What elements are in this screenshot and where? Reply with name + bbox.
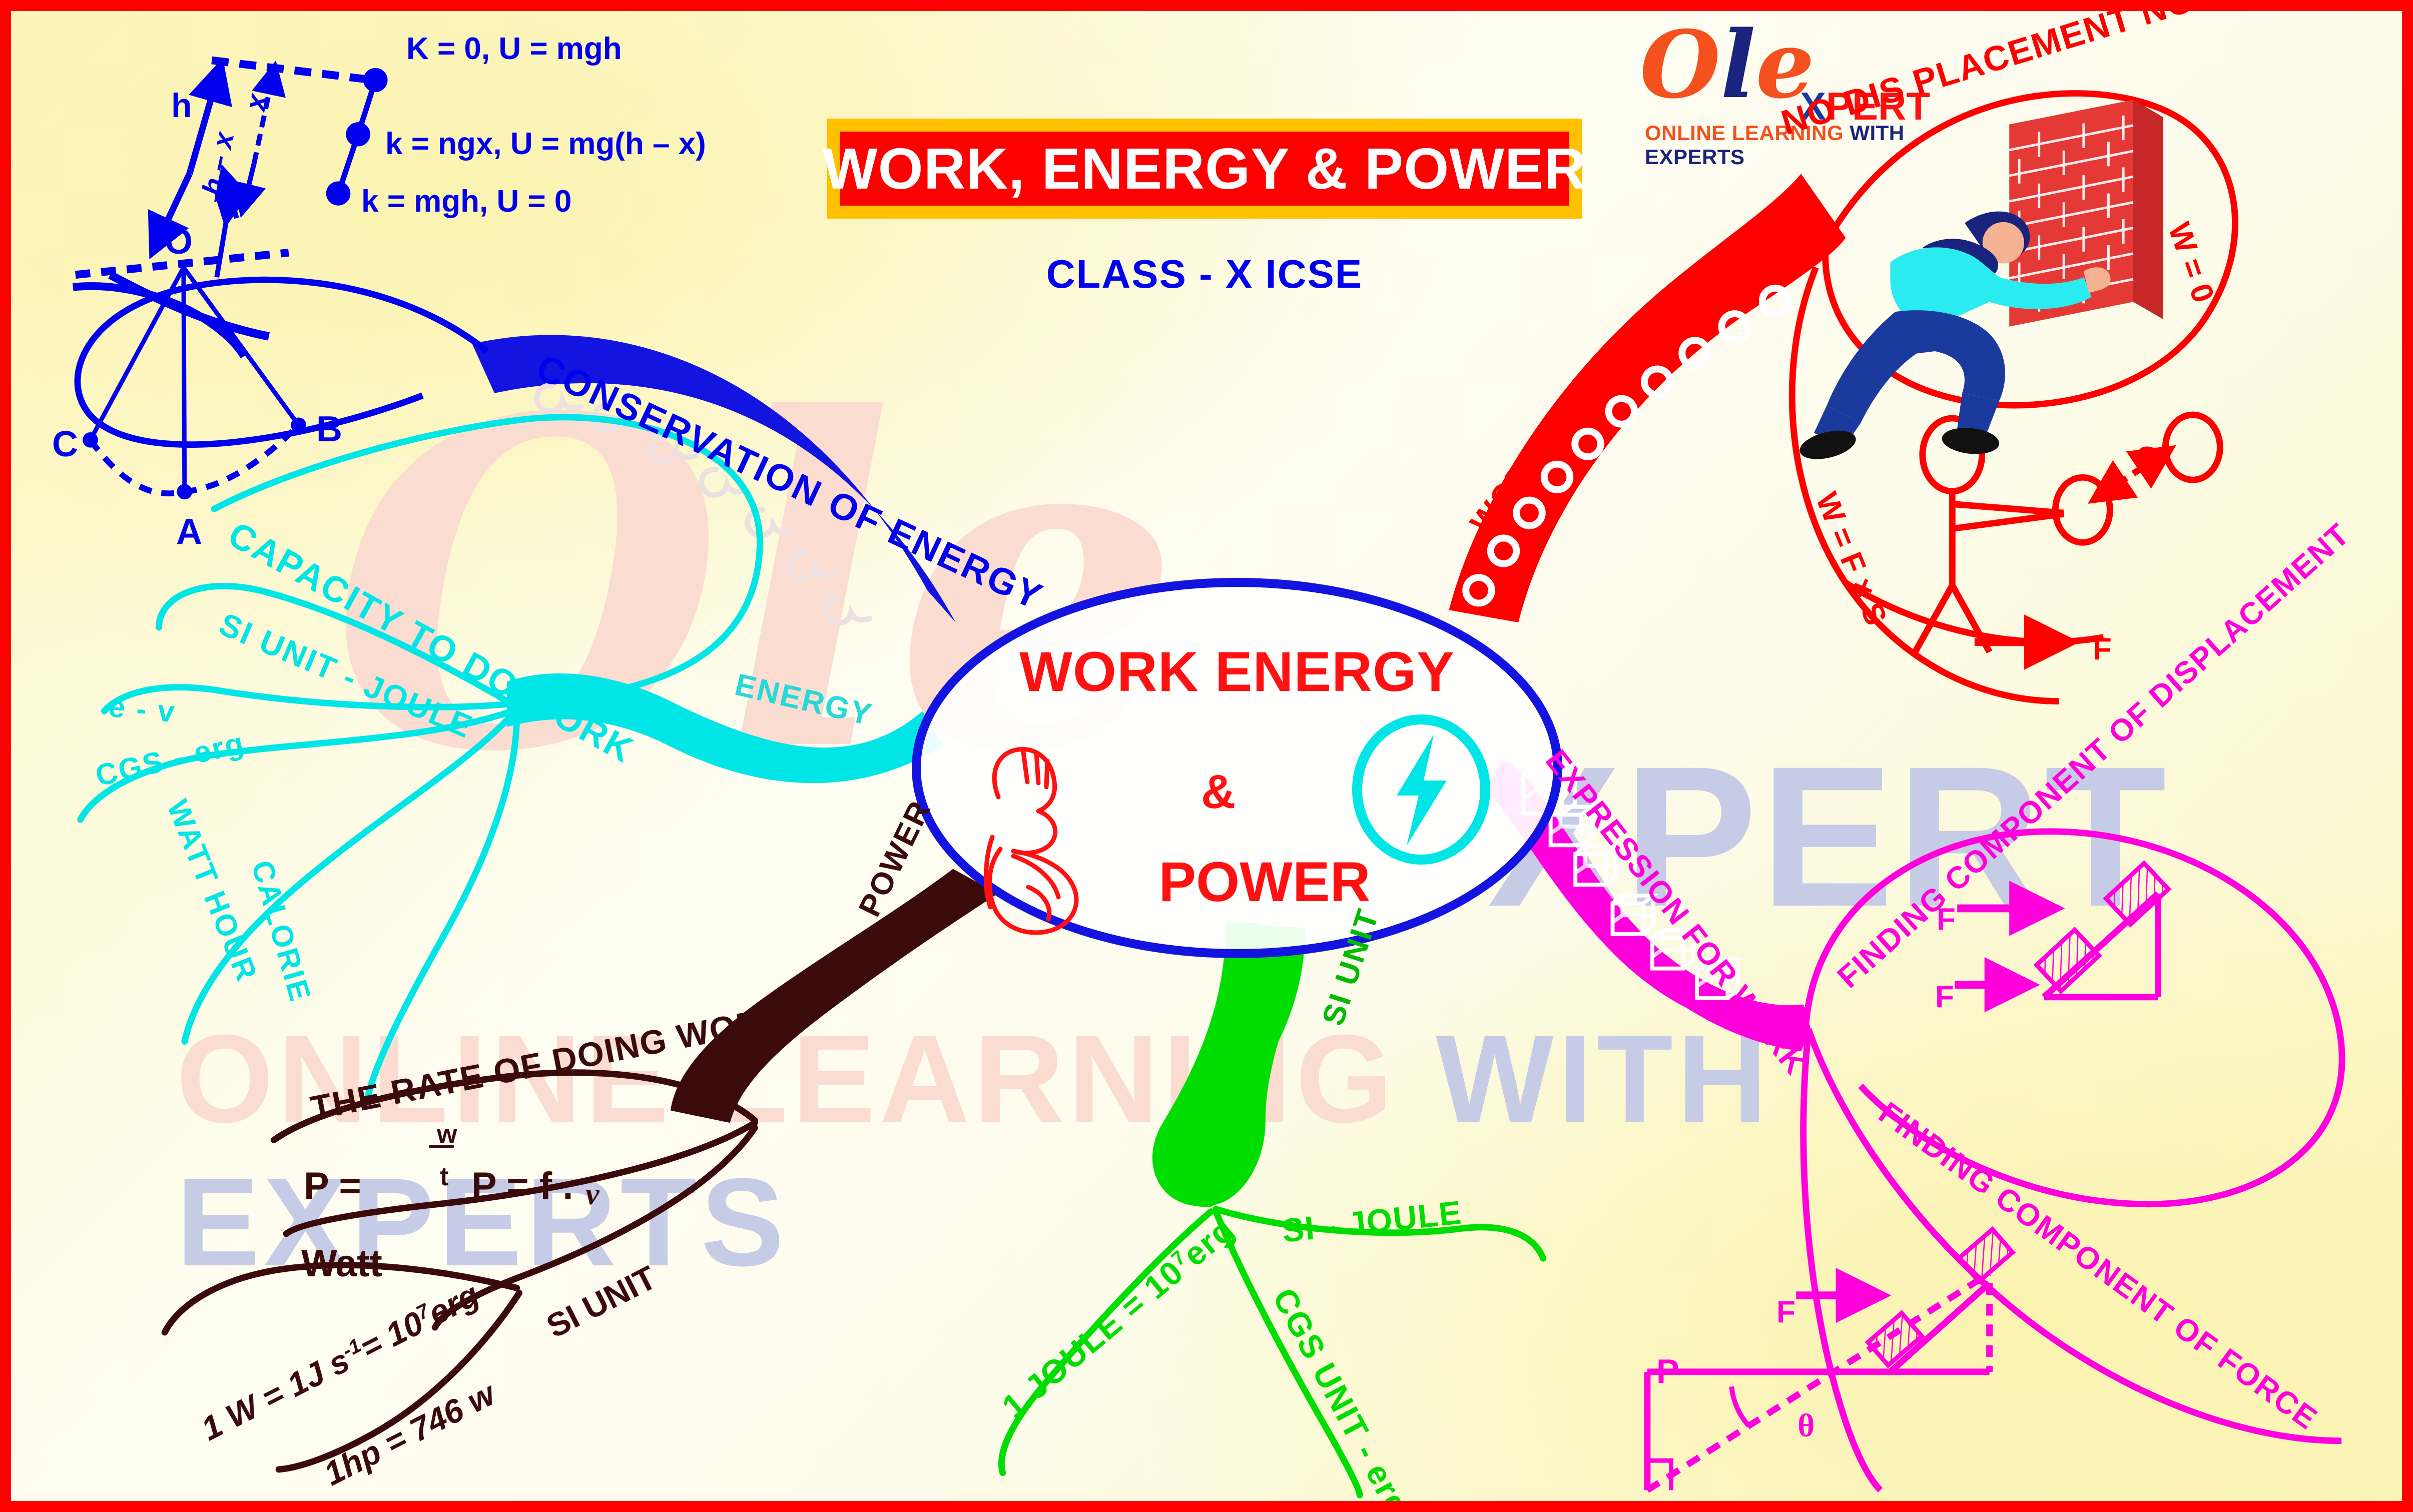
work-label-F: F xyxy=(2093,631,2112,667)
conservation-note-2: k = ngx, U = mg(h – x) xyxy=(385,126,706,162)
page-title: WORK, ENERGY & POWER xyxy=(823,135,1586,202)
logo-letter-l: l xyxy=(1720,10,1755,119)
page-subtitle: CLASS - X ICSE xyxy=(827,251,1582,297)
power-item-formula-p[interactable]: P = xyxy=(304,1164,361,1208)
power-item-formula-pfv[interactable]: P = f . xyxy=(471,1164,573,1208)
branch-work[interactable] xyxy=(1449,174,1846,622)
expression-label-P: P xyxy=(1656,1352,1679,1391)
expression-label-F3: F xyxy=(1776,1294,1795,1330)
pendulum-point-b: B xyxy=(316,409,342,450)
power-item-watt[interactable]: Watt xyxy=(301,1242,382,1285)
conservation-note-3: k = mgh, U = 0 xyxy=(361,184,571,219)
branch-conservation-of-energy[interactable] xyxy=(78,280,956,623)
central-line-2: & xyxy=(1201,765,1236,820)
displacement-component-diagram xyxy=(1955,863,2168,997)
logo-letter-o: O xyxy=(1640,10,1720,119)
power-item-formula-denominator: t xyxy=(440,1162,448,1192)
central-line-1: WORK ENERGY xyxy=(921,639,1553,704)
flexed-biceps-icon xyxy=(968,737,1133,937)
mindmap-canvas: Ole XPERT ONLINE LEARNING WITH EXPERTS xyxy=(0,0,2413,1512)
power-item-formula-numerator: w xyxy=(437,1119,457,1149)
lightning-bolt-icon xyxy=(1349,714,1494,865)
work-label-S: S xyxy=(2137,440,2157,476)
expression-label-F2: F xyxy=(1935,979,1954,1015)
pendulum-point-o: O xyxy=(165,221,193,262)
expression-label-theta: θ xyxy=(1797,1407,1815,1445)
pendulum-point-a: A xyxy=(176,511,202,552)
central-topic-node[interactable]: WORK ENERGY & POWER xyxy=(912,578,1562,958)
energy-item-e-v[interactable]: e - v xyxy=(107,689,178,729)
branch-si-unit[interactable] xyxy=(1152,923,1305,1207)
power-item-formula-v: v xyxy=(585,1177,599,1212)
pendulum-point-c: C xyxy=(52,424,78,465)
measure-h-label: h xyxy=(171,86,192,125)
logo-tagline: ONLINE LEARNING WITH EXPERTS xyxy=(1645,121,1920,169)
title-banner: WORK, ENERGY & POWER xyxy=(827,119,1582,219)
expression-label-F1: F xyxy=(1937,902,1956,937)
conservation-note-1: K = 0, U = mgh xyxy=(406,31,622,67)
logo-wordmark: Ole xyxy=(1640,19,1815,111)
